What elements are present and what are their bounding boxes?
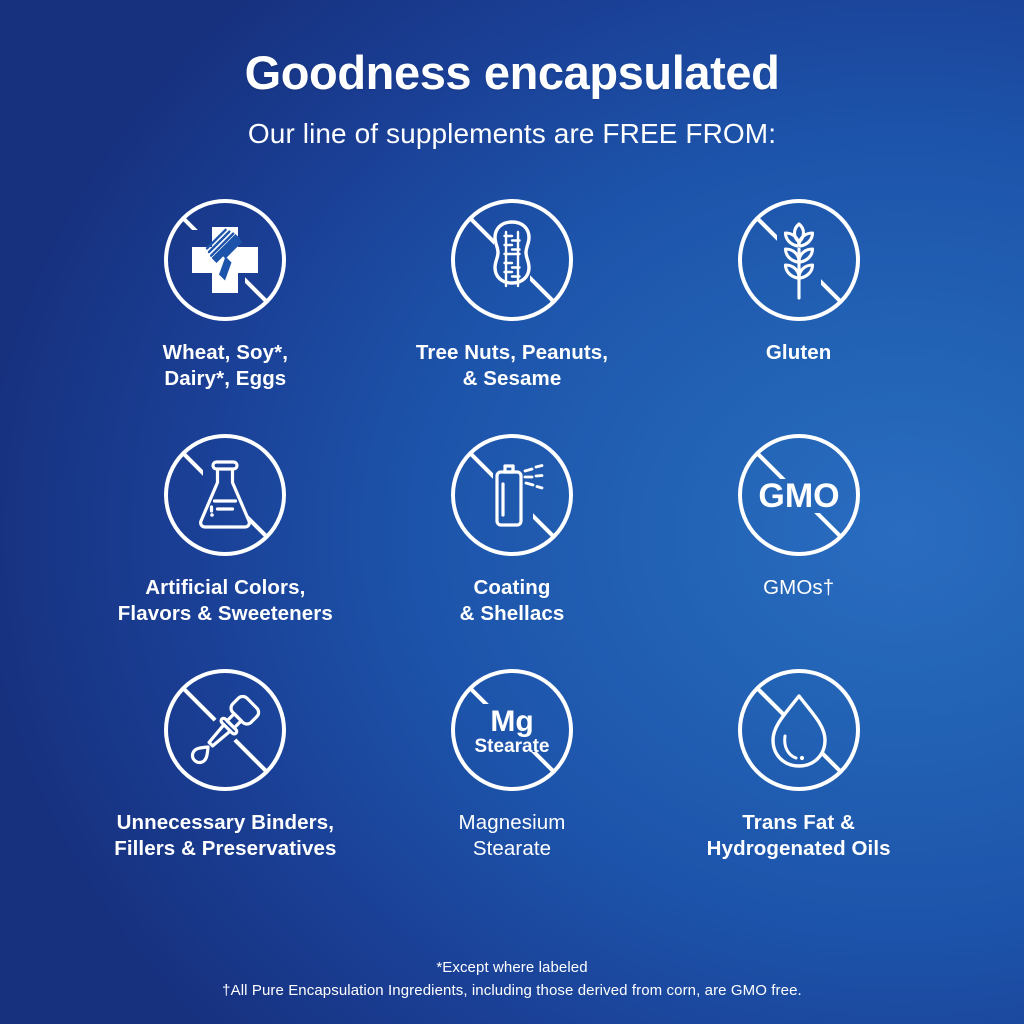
grid-item-magnesium-stearate: Mg Stearate Magnesium Stearate [369,664,656,899]
page-title: Goodness encapsulated [0,48,1024,99]
grid-item-coating-shellacs: Coating & Shellacs [369,429,656,664]
page-subtitle: Our line of supplements are FREE FROM: [0,117,1024,151]
grid-item-tree-nuts-peanuts-sesame: Tree Nuts, Peanuts, & Sesame [369,194,656,429]
grid-item-gmo: GMO GMOs† [655,429,942,664]
no-tree-nuts-peanuts-sesame-icon [446,194,578,326]
no-wheat-soy-dairy-eggs-icon [159,194,291,326]
no-magnesium-stearate-icon: Mg Stearate [446,664,578,796]
grid-item-label: GMOs† [763,575,834,601]
grid-item-label: Magnesium Stearate [459,810,566,862]
no-gluten-icon [733,194,865,326]
grid-item-trans-fat-hydrogenated-oils: Trans Fat & Hydrogenated Oils [655,664,942,899]
no-coating-shellacs-icon [446,429,578,561]
grid-item-label: Wheat, Soy*, Dairy*, Eggs [163,340,288,392]
grid-item-artificial-colors: Artificial Colors, Flavors & Sweeteners [82,429,369,664]
no-gmo-icon: GMO [733,429,865,561]
grid-item-label: Gluten [766,340,832,366]
no-artificial-colors-flavors-sweeteners-icon [159,429,291,561]
infographic-poster: Goodness encapsulated Our line of supple… [0,0,1024,1024]
grid-item-wheat-soy-dairy-eggs: Wheat, Soy*, Dairy*, Eggs [82,194,369,429]
grid-item-label: Artificial Colors, Flavors & Sweeteners [118,575,333,627]
footnote-dagger: †All Pure Encapsulation Ingredients, inc… [0,980,1024,1003]
footnote-asterisk: *Except where labeled [0,957,1024,980]
grid-item-label: Unnecessary Binders, Fillers & Preservat… [114,810,336,862]
no-trans-fat-hydrogenated-oils-icon [733,664,865,796]
footnotes: *Except where labeled †All Pure Encapsul… [0,957,1024,1002]
no-binders-fillers-preservatives-icon [159,664,291,796]
grid-item-gluten: Gluten [655,194,942,429]
grid-item-label: Trans Fat & Hydrogenated Oils [707,810,891,862]
mg-icon-text-secondary: Stearate [474,736,549,757]
mg-icon-text-primary: Mg [490,705,533,738]
gmo-icon-text: GMO [758,477,839,515]
grid-item-binders-fillers-preservatives: Unnecessary Binders, Fillers & Preservat… [82,664,369,899]
grid-item-label: Tree Nuts, Peanuts, & Sesame [416,340,608,392]
grid-item-label: Coating & Shellacs [460,575,565,627]
free-from-grid: Wheat, Soy*, Dairy*, Eggs [82,194,942,899]
header: Goodness encapsulated Our line of supple… [0,0,1024,150]
